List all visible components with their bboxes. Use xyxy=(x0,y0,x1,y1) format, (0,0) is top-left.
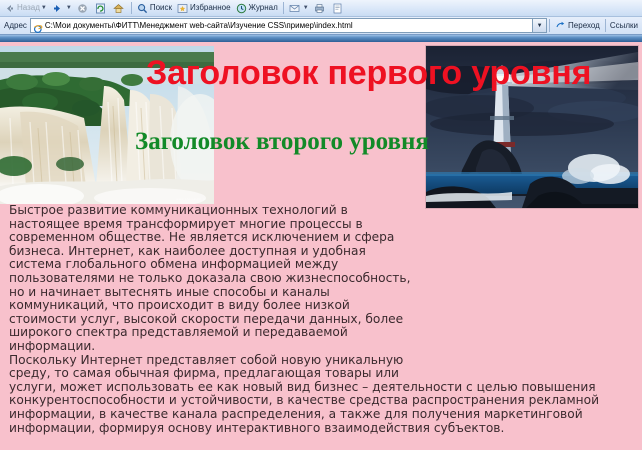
favorites-icon xyxy=(177,3,188,14)
search-button[interactable]: Поиск xyxy=(135,1,174,15)
chrome-bottom-strip xyxy=(0,35,642,42)
article-body: Быстрое развитие коммуникационных технол… xyxy=(9,204,633,435)
home-button[interactable] xyxy=(111,1,128,15)
links-separator xyxy=(605,19,606,32)
address-separator xyxy=(549,19,550,32)
page-subtitle-h2: Заголовок второго уровня xyxy=(135,129,429,154)
chevron-down-icon-forward[interactable]: ▼ xyxy=(66,5,72,11)
address-label: Адрес xyxy=(2,21,30,30)
history-button[interactable]: Журнал xyxy=(234,1,280,15)
toolbar-separator-1 xyxy=(131,2,132,14)
go-label: Переход xyxy=(568,21,600,30)
go-arrow-icon xyxy=(555,20,566,31)
page-title-h1: Заголовок первого уровня xyxy=(146,56,591,90)
chevron-down-icon-address: ▼ xyxy=(537,23,543,29)
address-value: C:\Мои документы\ФИТТ\Менеджмент web-сай… xyxy=(45,22,531,30)
image-float-spacer xyxy=(411,204,633,376)
forward-button[interactable]: ▼ xyxy=(50,1,74,15)
home-icon xyxy=(113,3,124,14)
links-label: Ссылки xyxy=(610,21,638,30)
refresh-button[interactable] xyxy=(93,1,110,15)
arrow-left-icon xyxy=(4,3,15,14)
links-button[interactable]: Ссылки xyxy=(608,21,640,30)
print-button[interactable] xyxy=(312,1,329,15)
search-label: Поиск xyxy=(150,4,172,12)
go-button[interactable]: Переход xyxy=(552,20,603,31)
mail-icon xyxy=(289,3,300,14)
mail-button[interactable]: ▼ xyxy=(287,1,311,15)
back-label: Назад xyxy=(17,4,40,12)
refresh-icon xyxy=(95,3,106,14)
search-icon xyxy=(137,3,148,14)
chevron-down-icon-mail[interactable]: ▼ xyxy=(303,5,309,11)
print-icon xyxy=(314,3,325,14)
page-content: www.photosight.ru xyxy=(0,42,642,450)
back-button[interactable]: Назад ▼ xyxy=(2,1,49,15)
arrow-right-icon xyxy=(52,3,63,14)
edit-page-icon xyxy=(332,3,343,14)
browser-chrome: Назад ▼ ▼ xyxy=(0,0,642,42)
history-icon xyxy=(236,3,247,14)
address-bar-row: Адрес C:\Мои документы\ФИТТ\Менеджмент w… xyxy=(0,17,642,35)
history-label: Журнал xyxy=(249,4,278,12)
stop-button[interactable] xyxy=(75,1,92,15)
internet-explorer-icon xyxy=(33,21,43,31)
favorites-button[interactable]: Избранное xyxy=(175,1,233,15)
toolbar-separator-2 xyxy=(283,2,284,14)
address-dropdown-button[interactable]: ▼ xyxy=(533,18,547,33)
image-watermark: www.photosight.ru xyxy=(176,197,206,201)
address-input[interactable]: C:\Мои документы\ФИТТ\Менеджмент web-сай… xyxy=(30,18,533,33)
chevron-down-icon[interactable]: ▼ xyxy=(41,5,47,11)
browser-toolbar: Назад ▼ ▼ xyxy=(0,0,642,17)
favorites-label: Избранное xyxy=(190,4,231,12)
stop-icon xyxy=(77,3,88,14)
edit-button[interactable] xyxy=(330,1,347,15)
